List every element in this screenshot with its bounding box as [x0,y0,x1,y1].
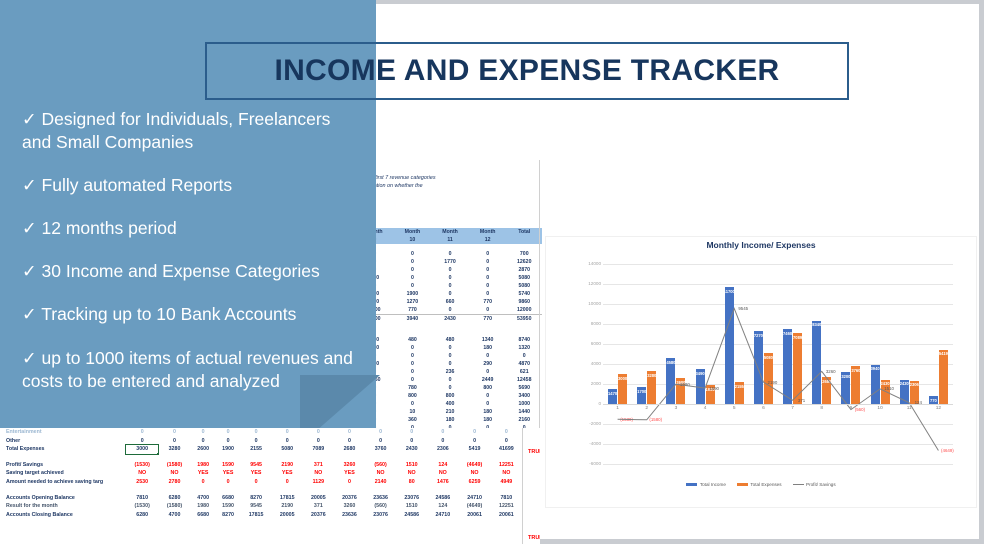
bar-data-label: 1470 [605,391,621,396]
table-cell[interactable]: 24586 [396,511,427,520]
table-cell[interactable]: 1900 [394,290,432,298]
table-cell[interactable]: 0 [431,352,469,360]
table-cell[interactable]: 0 [427,437,458,446]
table-cell[interactable]: 0 [431,266,469,274]
table-cell[interactable]: 621 [507,368,543,376]
table-cell[interactable]: NO [491,469,522,478]
table-cell[interactable]: 0 [394,258,432,266]
table-cell[interactable]: 41699 [491,445,522,454]
bar-data-label: 770 [925,398,941,403]
table-cell[interactable]: 0 [334,478,365,487]
table-cell[interactable]: 0 [427,428,458,437]
row-label: Accounts Opening Balance [4,494,126,503]
table-cell[interactable]: 20376 [303,511,334,520]
table-cell[interactable]: 3260 [334,502,365,511]
table-cell[interactable]: NO [365,469,396,478]
table-cell[interactable]: 3260 [334,461,365,470]
table-cell[interactable]: 2870 [507,266,543,274]
table-cell[interactable]: (1530) [126,502,158,511]
line-data-label: (1530) [616,417,638,422]
table-cell[interactable]: 210 [431,408,469,416]
table-cell[interactable]: 0 [394,344,432,352]
bar-total-expenses[interactable] [939,350,948,404]
table-cell[interactable]: 7810 [126,494,158,503]
table-cell[interactable]: 1440 [507,408,543,416]
table-cell[interactable]: YES [191,469,216,478]
table-cell[interactable]: 3000 [126,445,158,454]
table-cell[interactable]: 770 [394,306,432,315]
table-cell[interactable]: 20376 [334,494,365,503]
income-row[interactable]: 77012706607709860 [356,298,542,306]
row-label: Entertainment [4,428,126,437]
expense-row[interactable]: 96048048013408740 [356,336,542,344]
table-cell[interactable]: YES [241,469,272,478]
table-cell[interactable]: 23076 [365,511,396,520]
table-cell[interactable]: 0 [394,376,432,384]
table-cell[interactable]: 1900 [216,445,241,454]
table-cell[interactable]: 360 [394,416,432,424]
table-cell[interactable]: (560) [365,502,396,511]
table-row[interactable]: Amount needed to achieve saving targ2530… [4,478,522,487]
table-cell[interactable]: 0 [241,437,272,446]
line-data-label: 9545 [732,306,754,311]
table-cell[interactable]: 12000 [507,306,543,315]
table-cell[interactable]: YES [334,469,365,478]
table-cell[interactable]: 0 [216,428,241,437]
table-cell[interactable]: 20005 [272,511,303,520]
expense-row[interactable]: 360001801320 [356,344,542,352]
table-cell[interactable]: 0 [431,290,469,298]
table-cell[interactable]: 8270 [216,511,241,520]
table-cell[interactable]: 8740 [507,336,543,344]
income-row[interactable]: 7700005080 [356,274,542,282]
table-cell[interactable]: 0 [126,428,158,437]
table-cell[interactable]: (1580) [158,461,190,470]
expense-row[interactable]: 0040001000 [356,400,542,408]
table-cell[interactable]: (560) [365,461,396,470]
legend-swatch-icon [686,483,697,486]
table-cell[interactable]: 0 [469,274,507,282]
expense-row[interactable]: 156000244912458 [356,376,542,384]
table-cell[interactable]: 0 [365,428,396,437]
table-cell[interactable]: 0 [396,437,427,446]
legend-label: Total Income [700,482,726,487]
table-cell[interactable]: 0 [394,250,432,258]
table-cell[interactable]: 9860 [507,298,543,306]
income-table[interactable]: MonthMonthMonthMonthTotal910111200007000… [356,228,542,432]
table-cell[interactable]: 0 [469,250,507,258]
table-cell[interactable] [507,236,543,244]
table-cell[interactable]: 2190 [272,461,303,470]
table-cell[interactable]: 0 [431,344,469,352]
table-cell[interactable]: 2190 [272,502,303,511]
table-cell[interactable]: 2160 [507,416,543,424]
table-cell[interactable]: 2140 [365,478,396,487]
bar-data-label: 3280 [644,373,660,378]
y-axis-tick-label: 0 [561,401,601,406]
table-cell[interactable]: 8270 [241,494,272,503]
expense-row[interactable]: 002360621 [356,368,542,376]
table-row[interactable]: Entertainment0000000000000 [4,428,522,437]
table-cell[interactable]: 7089 [303,445,334,454]
table-cell[interactable]: 0 [126,437,158,446]
table-row[interactable]: Profit/ Savings(1530)(1580)1980159095452… [4,461,522,470]
table-cell[interactable]: (1530) [126,461,158,470]
y-axis-tick-label: 14000 [561,261,601,266]
y-axis-tick-label: 8000 [561,321,601,326]
table-cell[interactable]: Month [431,228,469,236]
table-cell[interactable]: 20005 [303,494,334,503]
expense-row[interactable]: 0102101801440 [356,408,542,416]
table-cell[interactable]: 5080 [272,445,303,454]
table-cell[interactable]: 3940 [394,315,432,324]
table-cell[interactable]: 1510 [396,502,427,511]
bar-data-label: 3940 [867,366,883,371]
bar-data-label: 5419 [935,351,951,356]
table-cell[interactable]: 12458 [507,376,543,384]
table-cell[interactable]: NO [396,469,427,478]
table-cell[interactable]: 0 [394,266,432,274]
bullet-item: ✓ 12 months period [22,217,362,240]
income-total-row[interactable]: 32003940243077053950 [356,315,542,324]
table-cell[interactable]: 2780 [158,478,190,487]
spacer-row [4,487,522,494]
table-cell[interactable]: 1980 [191,502,216,511]
table-cell[interactable]: 236 [431,368,469,376]
table-cell[interactable]: 0 [216,437,241,446]
table-cell[interactable]: 0 [272,437,303,446]
table-cell[interactable]: 2600 [191,445,216,454]
table-cell[interactable]: 0 [365,437,396,446]
sheet-note-line-1: of the first 7 revenue categories [360,174,540,182]
table-row[interactable]: Result for the month(1530)(1580)19801590… [4,502,522,511]
table-cell[interactable]: 12251 [491,461,522,470]
table-cell[interactable]: 0 [394,400,432,408]
table-cell[interactable]: 3280 [158,445,190,454]
gridline [603,424,953,425]
table-cell[interactable]: 2680 [334,445,365,454]
table-cell[interactable]: 24586 [427,494,458,503]
spreadsheet-lower-fragment[interactable]: Entertainment0000000000000Other000000000… [0,428,540,544]
page-edge-right [979,0,984,544]
table-cell[interactable]: (1580) [158,502,190,511]
table-cell[interactable]: 1320 [507,344,543,352]
table-cell[interactable]: Month [469,228,507,236]
gridline [603,324,953,325]
row-label: Total Expenses [4,445,126,454]
table-subheader-row[interactable]: 9101112 [356,236,542,244]
feature-bullet-list: ✓ Designed for Individuals, Freelancers … [22,108,362,413]
table-cell[interactable]: 800 [431,392,469,400]
table-cell[interactable]: 9545 [241,461,272,470]
table-cell[interactable]: 371 [303,461,334,470]
income-row[interactable]: 00002870 [356,266,542,274]
table-cell[interactable]: 0 [396,428,427,437]
table-cell[interactable]: 1270 [394,298,432,306]
table-cell[interactable]: 12251 [491,502,522,511]
legend-item-total-income: Total Income [686,482,726,487]
table-cell[interactable]: 20061 [458,511,490,520]
bar-total-income[interactable] [812,321,821,404]
table-cell[interactable]: 2430 [431,315,469,324]
table-cell[interactable]: 1000 [507,400,543,408]
table-cell[interactable]: 180 [431,416,469,424]
table-cell[interactable]: 3760 [365,445,396,454]
table-cell[interactable]: 290 [469,360,507,368]
gridline [603,264,953,265]
table-cell[interactable]: 5080 [507,282,543,290]
table-cell[interactable]: NO [458,469,490,478]
table-cell[interactable]: (4649) [458,461,490,470]
table-cell[interactable]: 124 [427,502,458,511]
bar-data-label: 3000 [615,376,631,381]
bar-total-income[interactable] [754,331,763,404]
table-cell[interactable]: 800 [469,384,507,392]
expense-row[interactable]: 880002904870 [356,360,542,368]
table-cell[interactable]: 0 [469,352,507,360]
x-axis-tick-label: 6 [753,406,773,411]
spacer-row [4,454,522,461]
table-cell[interactable]: 6680 [216,494,241,503]
bar-total-income[interactable] [783,329,792,404]
bullet-item: ✓ 30 Income and Expense Categories [22,260,362,283]
table-cell[interactable]: 1340 [469,336,507,344]
table-cell[interactable]: 180 [469,408,507,416]
chart-plot-area: 14000120001000080006000400020000-2000-40… [603,264,953,464]
table-row[interactable]: Saving target achievedNONOYESYESYESYESNO… [4,469,522,478]
table-cell[interactable]: 5419 [458,445,490,454]
chart-legend: Total Income Total Expenses Profit/ Savi… [545,482,977,487]
table-cell[interactable]: 2306 [427,445,458,454]
table-cell[interactable]: NO [126,469,158,478]
expense-row[interactable]: 078008005690 [356,384,542,392]
table-cell[interactable]: 0 [158,428,190,437]
table-cell[interactable]: 0 [191,478,216,487]
table-cell[interactable]: 17815 [241,511,272,520]
table-cell[interactable]: 0 [216,478,241,487]
table-cell[interactable]: 0 [272,478,303,487]
table-cell[interactable]: 0 [394,352,432,360]
expense-row[interactable]: 00000 [356,352,542,360]
table-cell[interactable]: 0 [191,437,216,446]
table-row[interactable]: Total Expenses30003280260019002155508070… [4,445,522,454]
table-cell[interactable]: 23636 [365,494,396,503]
x-axis-tick-label: 4 [695,406,715,411]
income-row[interactable]: 13007700012000 [356,306,542,315]
table-cell[interactable]: 0 [431,282,469,290]
table-cell[interactable]: 2530 [126,478,158,487]
table-cell[interactable]: 480 [431,336,469,344]
table-cell[interactable]: 0 [469,282,507,290]
table-cell[interactable]: 0 [507,352,543,360]
table-cell[interactable]: 124 [427,461,458,470]
table-cell[interactable]: 700 [507,250,543,258]
table-cell[interactable]: 0 [469,266,507,274]
table-cell[interactable]: 0 [431,384,469,392]
table-cell[interactable]: 4700 [158,511,190,520]
table-cell[interactable]: 0 [394,368,432,376]
table-cell[interactable]: 400 [431,400,469,408]
table-cell[interactable]: 6280 [126,511,158,520]
row-label: Other [4,437,126,446]
table-cell[interactable]: 4700 [191,494,216,503]
table-cell[interactable]: 11 [431,236,469,244]
income-row[interactable]: 3601900005740 [356,290,542,298]
row-label: Result for the month [4,502,126,511]
table-cell[interactable]: 1770 [431,258,469,266]
table-cell[interactable]: 0 [431,360,469,368]
table-cell[interactable]: NO [303,469,334,478]
table-cell[interactable]: 0 [394,274,432,282]
table-cell[interactable]: 480 [394,336,432,344]
table-cell[interactable]: 800 [394,392,432,400]
table-cell[interactable]: 180 [469,344,507,352]
table-cell[interactable]: 660 [431,298,469,306]
table-cell[interactable]: 0 [431,306,469,315]
row-label: Amount needed to achieve saving targ [4,478,126,487]
table-cell[interactable]: YES [216,469,241,478]
table-cell[interactable]: 10 [394,236,432,244]
gridline [603,444,953,445]
sheet-lower-right-border [522,428,523,544]
table-cell[interactable]: 0 [469,392,507,400]
table-cell[interactable]: NO [427,469,458,478]
table-cell[interactable]: YES [272,469,303,478]
table-cell[interactable]: (4649) [458,502,490,511]
table-cell[interactable]: 3400 [507,392,543,400]
table-cell[interactable]: 180 [469,416,507,424]
table-cell[interactable]: 24710 [458,494,490,503]
income-row[interactable]: 0000700 [356,250,542,258]
table-cell[interactable]: 0 [469,400,507,408]
table-cell[interactable]: 0 [158,437,190,446]
income-row[interactable]: 001770012620 [356,258,542,266]
x-axis-tick-label: 3 [666,406,686,411]
income-row[interactable]: 00005080 [356,282,542,290]
table-cell[interactable]: 80 [396,478,427,487]
table-cell[interactable]: 4949 [491,478,522,487]
table-cell[interactable]: 0 [334,437,365,446]
table-cell[interactable]: 2430 [396,445,427,454]
table-cell[interactable]: 23076 [396,494,427,503]
table-cell[interactable]: 1980 [191,461,216,470]
table-cell[interactable]: 0 [431,376,469,384]
table-cell[interactable]: 20061 [491,511,522,520]
table-cell[interactable]: 2449 [469,376,507,384]
bullet-item: ✓ Tracking up to 10 Bank Accounts [22,303,362,326]
table-cell[interactable]: 0 [241,478,272,487]
table-cell[interactable]: 0 [334,428,365,437]
y-axis-tick-label: 6000 [561,341,601,346]
table-cell[interactable]: 23636 [334,511,365,520]
table-row[interactable]: Other0000000000000 [4,437,522,446]
table-cell[interactable]: 12 [469,236,507,244]
table-cell[interactable]: 24710 [427,511,458,520]
row-label: Saving target achieved [4,469,126,478]
line-data-label: 1590 [703,386,725,391]
table-cell[interactable]: 1590 [216,502,241,511]
table-header-row[interactable]: MonthMonthMonthMonthTotal [356,228,542,236]
table-cell[interactable]: 0 [469,368,507,376]
table-cell[interactable]: 12620 [507,258,543,266]
line-data-label: (1580) [645,417,667,422]
table-cell[interactable]: 5080 [507,274,543,282]
table-cell[interactable]: 9545 [241,502,272,511]
bar-data-label: 11700 [721,289,737,294]
table-cell[interactable]: 770 [469,298,507,306]
legend-swatch-icon [737,483,748,486]
table-cell[interactable]: 0 [431,250,469,258]
table-row[interactable]: Accounts Opening Balance7810628047006680… [4,494,522,503]
spreadsheet-upper-fragment[interactable]: of the first 7 revenue categories nforma… [356,160,542,450]
table-cell[interactable]: 0 [469,258,507,266]
expense-row[interactable]: 03601801802160 [356,416,542,424]
table-cell[interactable]: 0 [491,428,522,437]
table-cell[interactable]: 17815 [272,494,303,503]
gridline [603,464,953,465]
table-cell[interactable]: 0 [491,437,522,446]
table-cell[interactable]: 0 [303,428,334,437]
table-cell[interactable]: 780 [394,384,432,392]
table-cell[interactable]: 0 [458,428,490,437]
table-cell[interactable]: 0 [241,428,272,437]
table-cell[interactable]: 6259 [458,478,490,487]
table-cell[interactable]: Total [507,228,543,236]
bar-data-label: 2155 [731,384,747,389]
bar-total-expenses[interactable] [793,333,802,404]
table-cell[interactable]: 1510 [396,461,427,470]
monthly-income-expenses-chart[interactable]: Monthly Income/ Expenses 140001200010000… [545,236,977,508]
x-axis-line [603,404,953,405]
bar-data-label: 8340 [809,322,825,327]
y-axis-tick-label: -2000 [561,421,601,426]
table-cell[interactable]: 0 [458,437,490,446]
table-cell[interactable]: 2155 [241,445,272,454]
table-cell[interactable]: Month [394,228,432,236]
table-cell[interactable]: 0 [272,428,303,437]
table-cell[interactable]: 5740 [507,290,543,298]
expense-row[interactable]: 080080003400 [356,392,542,400]
chart-title: Monthly Income/ Expenses [545,240,977,250]
table-cell[interactable]: 0 [303,437,334,446]
table-cell[interactable]: 7810 [491,494,522,503]
table-cell[interactable]: 53950 [507,315,543,324]
summary-table[interactable]: Entertainment0000000000000Other000000000… [4,428,522,519]
table-cell[interactable]: 1129 [303,478,334,487]
table-cell[interactable]: 0 [394,282,432,290]
bar-total-expenses[interactable] [764,353,773,404]
table-cell[interactable]: 6280 [158,494,190,503]
table-cell[interactable]: 0 [394,360,432,368]
table-cell[interactable]: 770 [469,315,507,324]
table-cell[interactable]: 1590 [216,461,241,470]
table-cell[interactable]: 5690 [507,384,543,392]
table-cell[interactable]: 4870 [507,360,543,368]
table-cell[interactable]: 0 [431,274,469,282]
table-cell[interactable]: 1476 [427,478,458,487]
table-cell[interactable]: 371 [303,502,334,511]
table-cell[interactable]: 6680 [191,511,216,520]
table-cell[interactable]: 0 [469,290,507,298]
bar-data-label: 7270 [750,333,766,338]
table-cell[interactable]: 0 [191,428,216,437]
table-cell[interactable]: 0 [469,306,507,315]
y-axis-tick-label: 4000 [561,361,601,366]
table-row[interactable]: Accounts Closing Balance6280470066808270… [4,511,522,520]
table-cell[interactable]: NO [158,469,190,478]
legend-item-total-expenses: Total Expenses [737,482,782,487]
table-cell[interactable]: 10 [394,408,432,416]
